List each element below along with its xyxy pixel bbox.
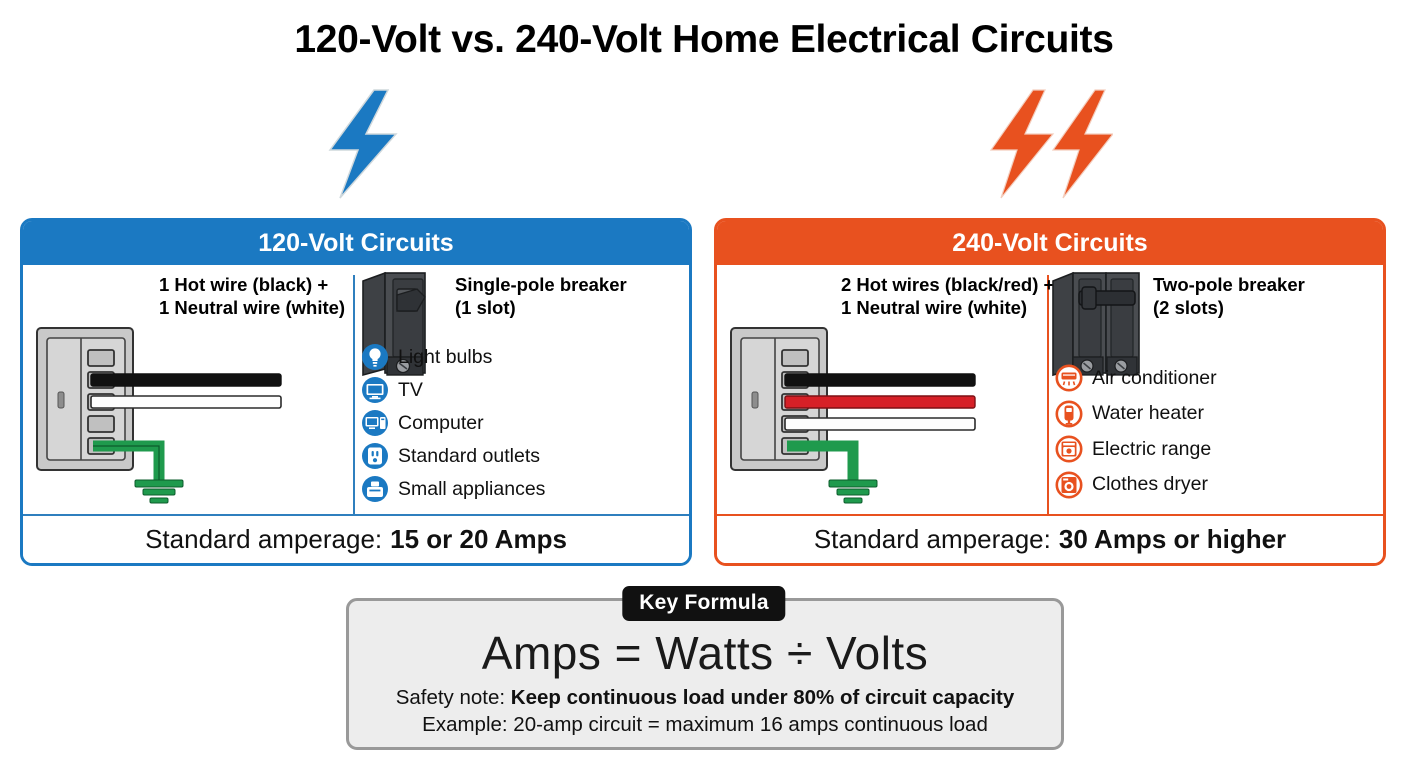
lightning-bolt-icon-blue bbox=[318, 88, 408, 205]
panel-120-header: 120-Volt Circuits bbox=[23, 221, 689, 265]
panel-120-breaker-caption: Single-pole breaker (1 slot) bbox=[455, 273, 627, 320]
wire-caption-line1: 2 Hot wires (black/red) + bbox=[841, 273, 1054, 296]
list-item-label: Small appliances bbox=[398, 478, 545, 501]
key-formula-badge: Key Formula bbox=[622, 586, 785, 621]
list-item-label: Electric range bbox=[1092, 438, 1211, 461]
safety-note-bold: Keep continuous load under 80% of circui… bbox=[511, 686, 1015, 709]
formula-example: Example: 20-amp circuit = maximum 16 amp… bbox=[349, 713, 1061, 737]
formula-safety-note: Safety note: Keep continuous load under … bbox=[349, 686, 1061, 710]
panel-240-body: 2 Hot wires (black/red) + 1 Neutral wire… bbox=[717, 265, 1383, 520]
panel-240-appliance-list: Air conditioner Water heater bbox=[1055, 361, 1217, 503]
list-item: Standard outlets bbox=[361, 440, 545, 472]
breaker-caption-line1: Two-pole breaker bbox=[1153, 273, 1305, 296]
list-item-label: Clothes dryer bbox=[1092, 473, 1208, 496]
formula-equation: Amps = Watts ÷ Volts bbox=[349, 626, 1061, 680]
list-item-label: Computer bbox=[398, 412, 484, 435]
panel-120-appliance-list: Light bulbs TV bbox=[361, 341, 545, 506]
footer-label: Standard amperage: bbox=[814, 524, 1051, 555]
panel-120-body: 1 Hot wire (black) + 1 Neutral wire (whi… bbox=[23, 265, 689, 520]
list-item-label: TV bbox=[398, 379, 423, 402]
wiring-diagram-120v bbox=[31, 320, 321, 510]
lightbulb-icon bbox=[361, 343, 389, 371]
list-item: Computer bbox=[361, 407, 545, 439]
outlet-icon bbox=[361, 442, 389, 470]
footer-value: 15 or 20 Amps bbox=[390, 524, 567, 555]
safety-note-prefix: Safety note: bbox=[396, 686, 511, 709]
tv-icon bbox=[361, 376, 389, 404]
panel-240-footer: Standard amperage: 30 Amps or higher bbox=[717, 514, 1383, 563]
panel-240-wire-caption: 2 Hot wires (black/red) + 1 Neutral wire… bbox=[841, 273, 1054, 320]
wire-caption-line2: 1 Neutral wire (white) bbox=[159, 296, 345, 319]
panel-120-volt: 120-Volt Circuits 1 Hot wire (black) + 1… bbox=[20, 218, 692, 566]
wire-caption-line2: 1 Neutral wire (white) bbox=[841, 296, 1054, 319]
panel-120-wire-caption: 1 Hot wire (black) + 1 Neutral wire (whi… bbox=[159, 273, 345, 320]
list-item: Clothes dryer bbox=[1055, 468, 1217, 503]
lightning-bolt-icon-orange bbox=[985, 88, 1113, 205]
panel-240-wiring-column: 2 Hot wires (black/red) + 1 Neutral wire… bbox=[717, 265, 1047, 520]
wiring-diagram-240v bbox=[725, 320, 1015, 510]
panel-120-footer: Standard amperage: 15 or 20 Amps bbox=[23, 514, 689, 563]
water-heater-icon bbox=[1055, 400, 1083, 428]
breaker-caption-line2: (2 slots) bbox=[1153, 296, 1305, 319]
list-item: Water heater bbox=[1055, 397, 1217, 432]
computer-icon bbox=[361, 409, 389, 437]
panel-240-breaker-column: Two-pole breaker (2 slots) Air c bbox=[1049, 265, 1383, 520]
toaster-icon bbox=[361, 475, 389, 503]
list-item-label: Water heater bbox=[1092, 402, 1204, 425]
list-item: Air conditioner bbox=[1055, 361, 1217, 396]
clothes-dryer-icon bbox=[1055, 471, 1083, 499]
panel-240-volt: 240-Volt Circuits 2 Hot wires (black/red… bbox=[714, 218, 1386, 566]
list-item-label: Light bulbs bbox=[398, 346, 492, 369]
air-conditioner-icon bbox=[1055, 364, 1083, 392]
list-item-label: Standard outlets bbox=[398, 445, 540, 468]
panel-120-breaker-column: Single-pole breaker (1 slot) Light bulbs bbox=[355, 265, 689, 520]
page-title: 120-Volt vs. 240-Volt Home Electrical Ci… bbox=[0, 18, 1408, 62]
list-item: TV bbox=[361, 374, 545, 406]
footer-label: Standard amperage: bbox=[145, 524, 382, 555]
panel-240-breaker-caption: Two-pole breaker (2 slots) bbox=[1153, 273, 1305, 320]
list-item: Small appliances bbox=[361, 473, 545, 505]
panel-120-wiring-column: 1 Hot wire (black) + 1 Neutral wire (whi… bbox=[23, 265, 353, 520]
breaker-caption-line1: Single-pole breaker bbox=[455, 273, 627, 296]
list-item-label: Air conditioner bbox=[1092, 367, 1217, 390]
electric-range-icon bbox=[1055, 435, 1083, 463]
wire-caption-line1: 1 Hot wire (black) + bbox=[159, 273, 345, 296]
list-item: Light bulbs bbox=[361, 341, 545, 373]
list-item: Electric range bbox=[1055, 432, 1217, 467]
breaker-caption-line2: (1 slot) bbox=[455, 296, 627, 319]
panel-240-header: 240-Volt Circuits bbox=[717, 221, 1383, 265]
footer-value: 30 Amps or higher bbox=[1059, 524, 1286, 555]
infographic-root: 120-Volt vs. 240-Volt Home Electrical Ci… bbox=[0, 0, 1408, 768]
